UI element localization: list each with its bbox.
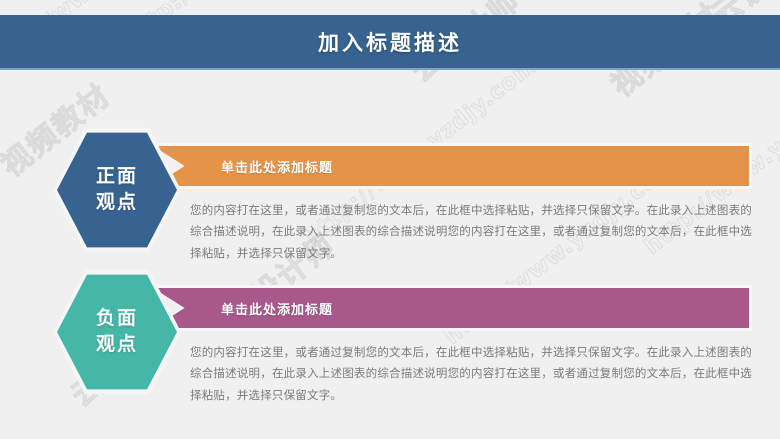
body-paragraph-negative: 您的内容打在这里，或者通过复制您的文本后，在此框中选择粘贴，并选择只保留文字。在… bbox=[190, 342, 752, 406]
title-bar-label: 单击此处添加标题 bbox=[221, 157, 333, 176]
hexagon-label-line1: 负面 bbox=[96, 306, 138, 332]
page-title: 加入标题描述 bbox=[318, 27, 462, 57]
hexagon-badge-negative[interactable]: 负面 观点 bbox=[53, 267, 181, 397]
title-bar-positive[interactable]: 单击此处添加标题 bbox=[150, 143, 752, 189]
hexagon-label-line2: 观点 bbox=[96, 190, 138, 216]
title-bar-label: 单击此处添加标题 bbox=[221, 299, 333, 318]
hexagon-label-line1: 正面 bbox=[96, 164, 138, 190]
content-row-negative: 负面 观点 单击此处添加标题 您的内容打在这里，或者通过复制您的文本后，在此框中… bbox=[0, 262, 780, 407]
hexagon-badge-positive[interactable]: 正面 观点 bbox=[53, 125, 181, 255]
slide-header-band: 加入标题描述 bbox=[0, 15, 780, 70]
title-bar-fill: 单击此处添加标题 bbox=[153, 146, 749, 186]
title-bar-fill: 单击此处添加标题 bbox=[153, 288, 749, 328]
body-paragraph-positive: 您的内容打在这里，或者通过复制您的文本后，在此框中选择粘贴，并选择只保留文字。在… bbox=[190, 200, 752, 264]
content-row-positive: 正面 观点 单击此处添加标题 您的内容打在这里，或者通过复制您的文本后，在此框中… bbox=[0, 120, 780, 260]
hexagon-label-line2: 观点 bbox=[96, 332, 138, 358]
title-bar-negative[interactable]: 单击此处添加标题 bbox=[150, 285, 752, 331]
